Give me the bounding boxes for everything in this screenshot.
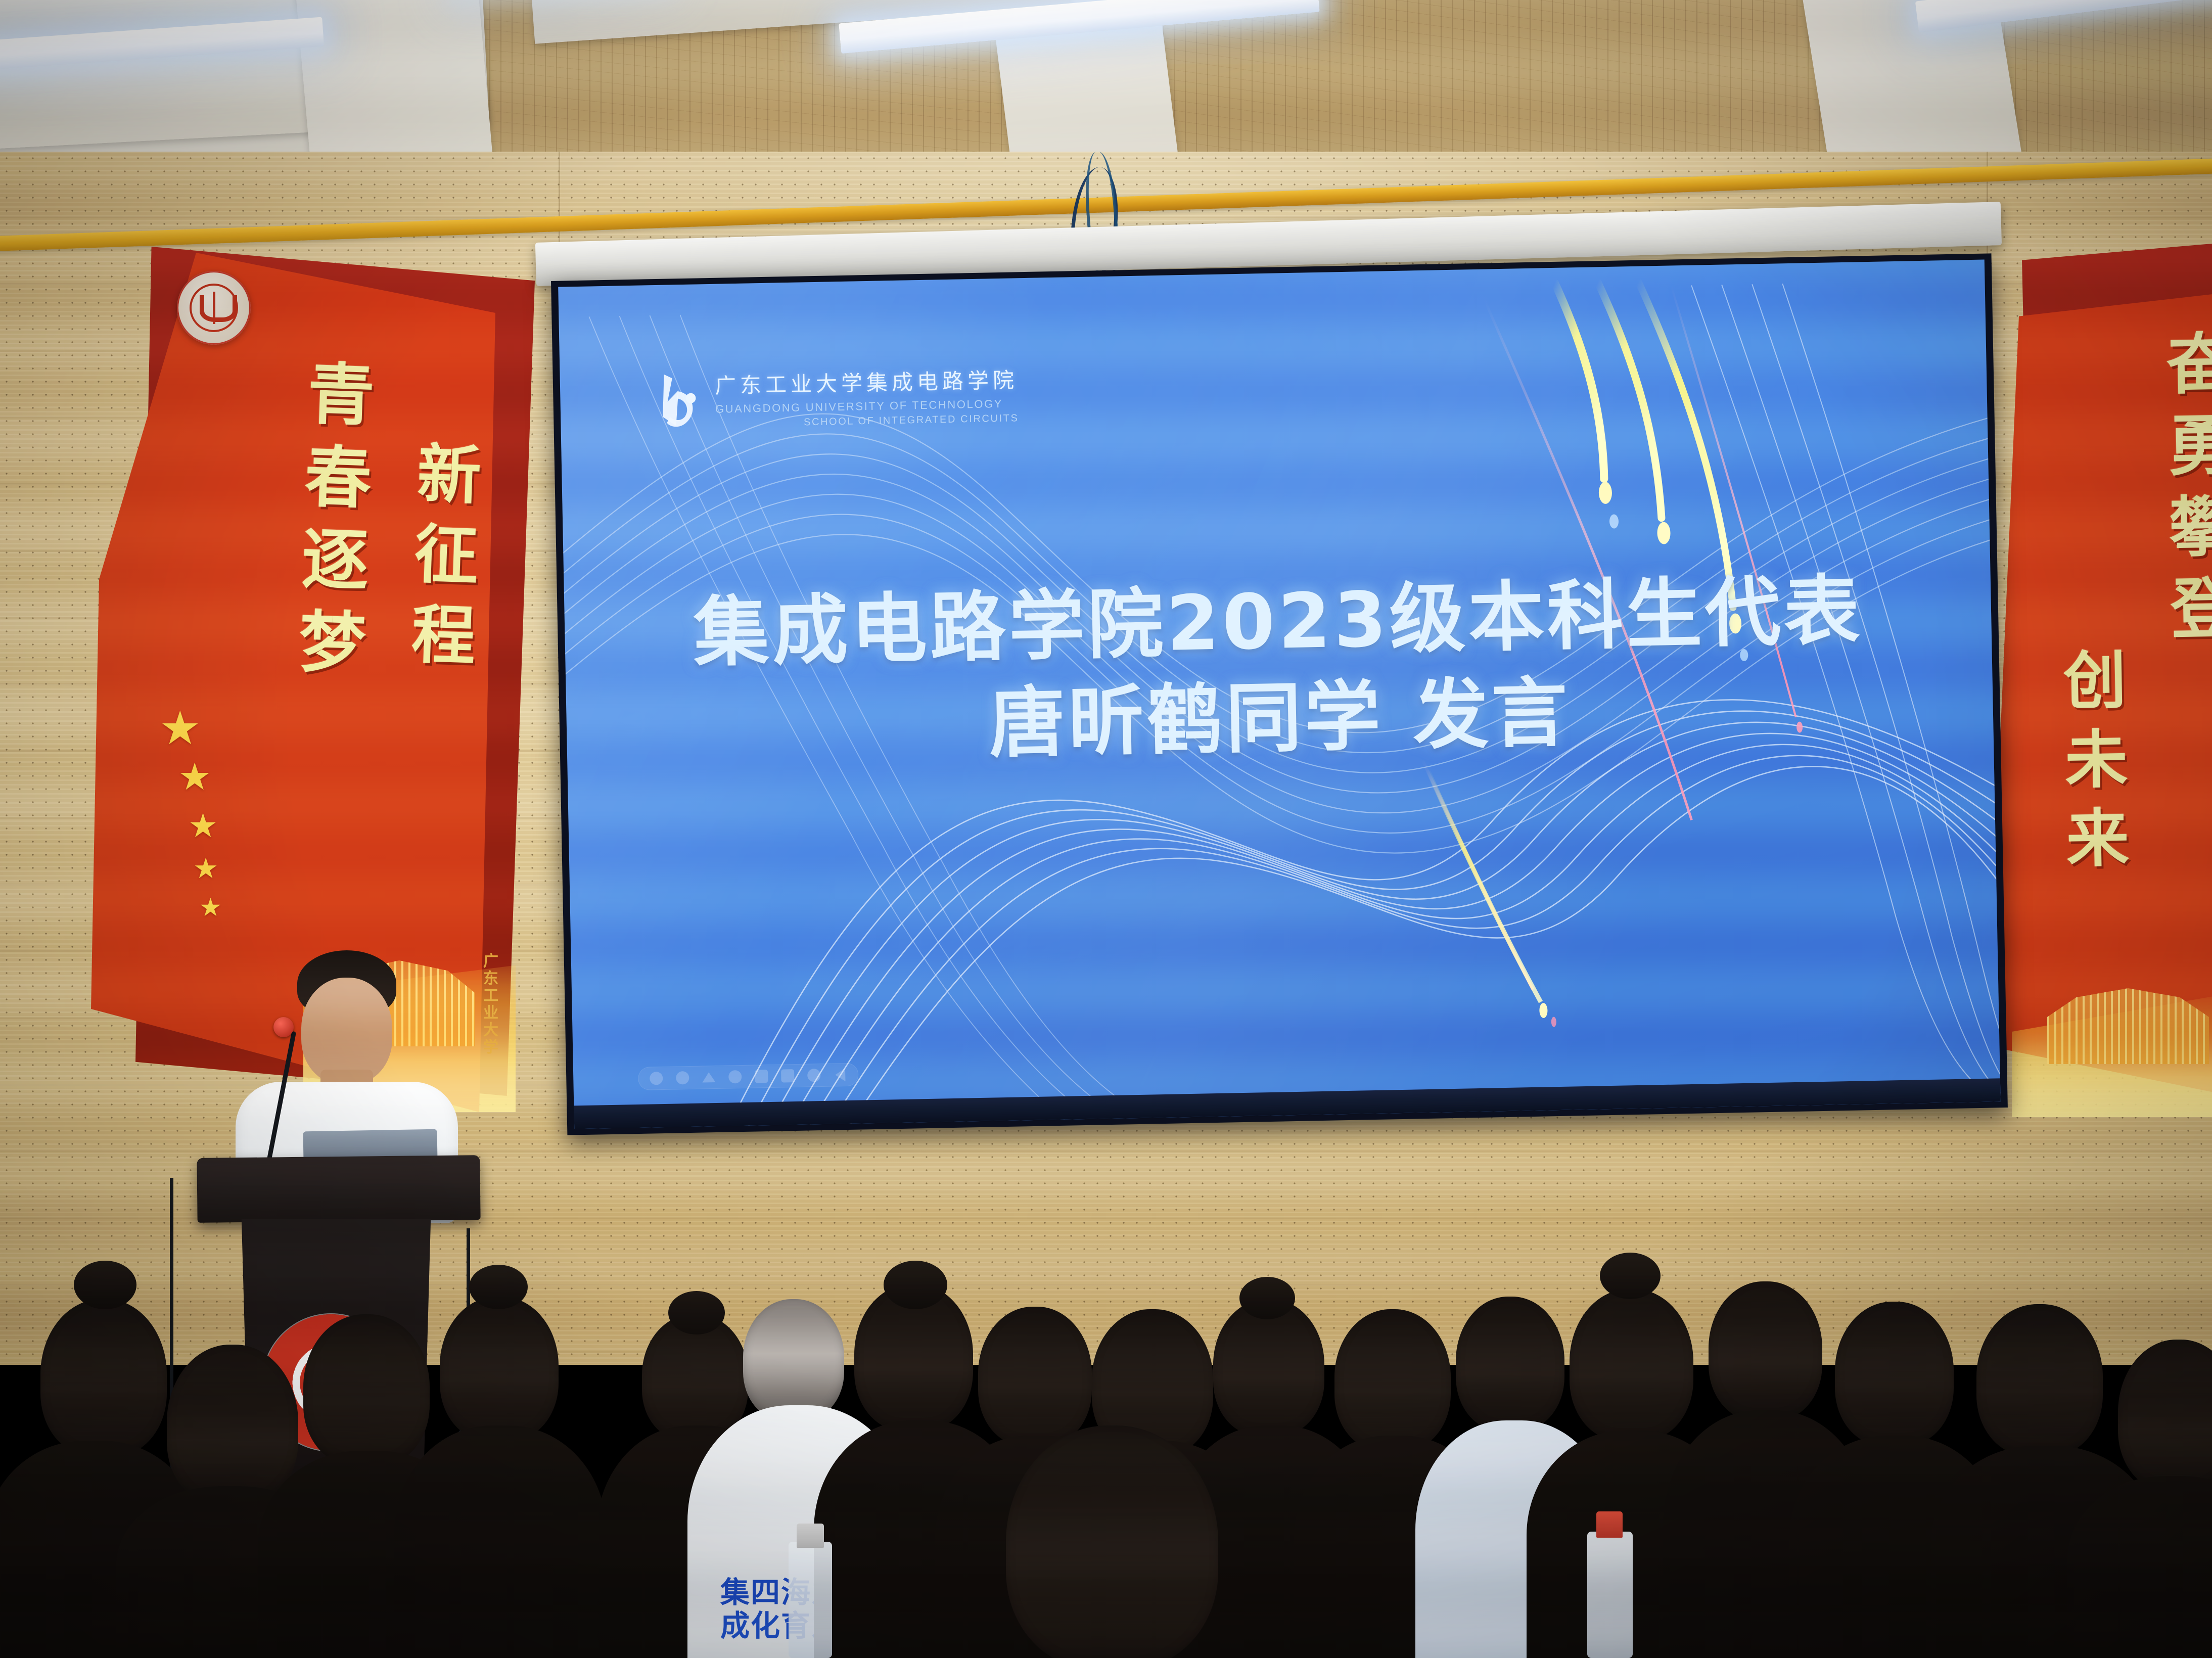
audience-head bbox=[1570, 1289, 1693, 1441]
banner-right-char: 勇 bbox=[2167, 404, 2212, 487]
banner-right-column-1: 奋 勇 攀 登 bbox=[2165, 323, 2212, 650]
banner-right-column-2: 创 未 来 bbox=[2063, 641, 2130, 880]
audience-head-foreground bbox=[1006, 1425, 1218, 1658]
gdut-seal-emblem bbox=[177, 271, 251, 345]
slide-surface[interactable]: 广东工业大学集成电路学院 GUANGDONG UNIVERSITY OF TEC… bbox=[558, 260, 2000, 1129]
audience-head bbox=[1213, 1299, 1324, 1436]
banner-left-char: 梦 bbox=[298, 601, 367, 686]
audience-head bbox=[40, 1299, 167, 1456]
banner-left-char: 征 bbox=[413, 514, 479, 596]
banner-right-char: 未 bbox=[2064, 720, 2129, 800]
banner-right-char: 攀 bbox=[2169, 486, 2212, 568]
banner-left-column-1: 青 春 逐 梦 bbox=[298, 353, 376, 686]
whiteboard-icon[interactable] bbox=[781, 1069, 794, 1082]
audience-hair-bun bbox=[1600, 1253, 1661, 1299]
slides-grid-icon[interactable] bbox=[755, 1070, 768, 1083]
audience-head bbox=[1456, 1297, 1564, 1431]
water-bottle bbox=[789, 1542, 832, 1658]
banner-left-char: 春 bbox=[303, 435, 373, 520]
projector-screen-frame[interactable]: 广东工业大学集成电路学院 GUANGDONG UNIVERSITY OF TEC… bbox=[551, 253, 2008, 1135]
slide-logo-cn: 广东工业大学集成电路学院 bbox=[714, 363, 1018, 400]
more-options-icon[interactable] bbox=[807, 1069, 820, 1082]
banner-left-column-2: 新 征 程 bbox=[410, 434, 483, 676]
speaker-head bbox=[301, 978, 392, 1084]
audience-shoulders bbox=[394, 1425, 607, 1658]
audience-head bbox=[303, 1314, 430, 1466]
water-bottle-cap bbox=[797, 1524, 824, 1548]
audience-head bbox=[743, 1299, 844, 1420]
audience-hair-bun bbox=[884, 1261, 947, 1309]
slide-logo: 广东工业大学集成电路学院 GUANGDONG UNIVERSITY OF TEC… bbox=[649, 363, 1019, 431]
pointer-icon[interactable] bbox=[702, 1072, 715, 1082]
eraser-icon[interactable] bbox=[728, 1070, 742, 1083]
audience-hair-bun bbox=[469, 1265, 528, 1309]
previous-slide-icon[interactable] bbox=[835, 1068, 845, 1081]
audience-head bbox=[1976, 1304, 2103, 1456]
slide-title: 集成电路学院2023级本科生代表 唐昕鹤同学 发言 bbox=[564, 563, 1994, 784]
microphone-head bbox=[273, 1017, 294, 1037]
audience-head bbox=[167, 1345, 298, 1506]
auditorium-photo: ★ ★ ★ ★ ★ 青 春 逐 梦 新 征 程 广东工业大学 奋 勇 攀 登 创… bbox=[0, 0, 2212, 1658]
audience: 集四海之力 成化育之才 bbox=[0, 1264, 2212, 1658]
audience-head bbox=[2118, 1340, 2212, 1491]
banner-left-char: 新 bbox=[416, 434, 482, 516]
banner-right-char: 登 bbox=[2170, 567, 2212, 650]
presentation-toolbar[interactable] bbox=[638, 1063, 859, 1090]
water-bottle-cap bbox=[1596, 1511, 1623, 1538]
audience-head bbox=[978, 1307, 1092, 1446]
audience-hair-bun bbox=[1239, 1277, 1295, 1319]
banner-left-char: 逐 bbox=[300, 518, 370, 603]
banner-left-char: 程 bbox=[410, 594, 477, 676]
audience-head bbox=[440, 1297, 559, 1441]
banner-right-char: 奋 bbox=[2165, 323, 2212, 405]
pen-icon[interactable] bbox=[650, 1072, 663, 1085]
audience-head bbox=[1709, 1281, 1822, 1420]
audience-head bbox=[1334, 1309, 1451, 1451]
water-bottle bbox=[1587, 1532, 1633, 1658]
podium-top bbox=[197, 1155, 480, 1223]
banner-right-char: 来 bbox=[2065, 799, 2130, 879]
gdut-ic-monogram-icon bbox=[649, 370, 706, 431]
banner-left-char: 青 bbox=[306, 353, 376, 438]
highlighter-icon[interactable] bbox=[676, 1071, 689, 1084]
slide-logo-en2: SCHOOL OF INTEGRATED CIRCUITS bbox=[715, 412, 1019, 430]
banner-right-char: 创 bbox=[2063, 641, 2127, 721]
audience-hair-bun bbox=[74, 1261, 136, 1309]
audience-head bbox=[1835, 1302, 1954, 1446]
audience-hair-bun bbox=[668, 1291, 725, 1334]
